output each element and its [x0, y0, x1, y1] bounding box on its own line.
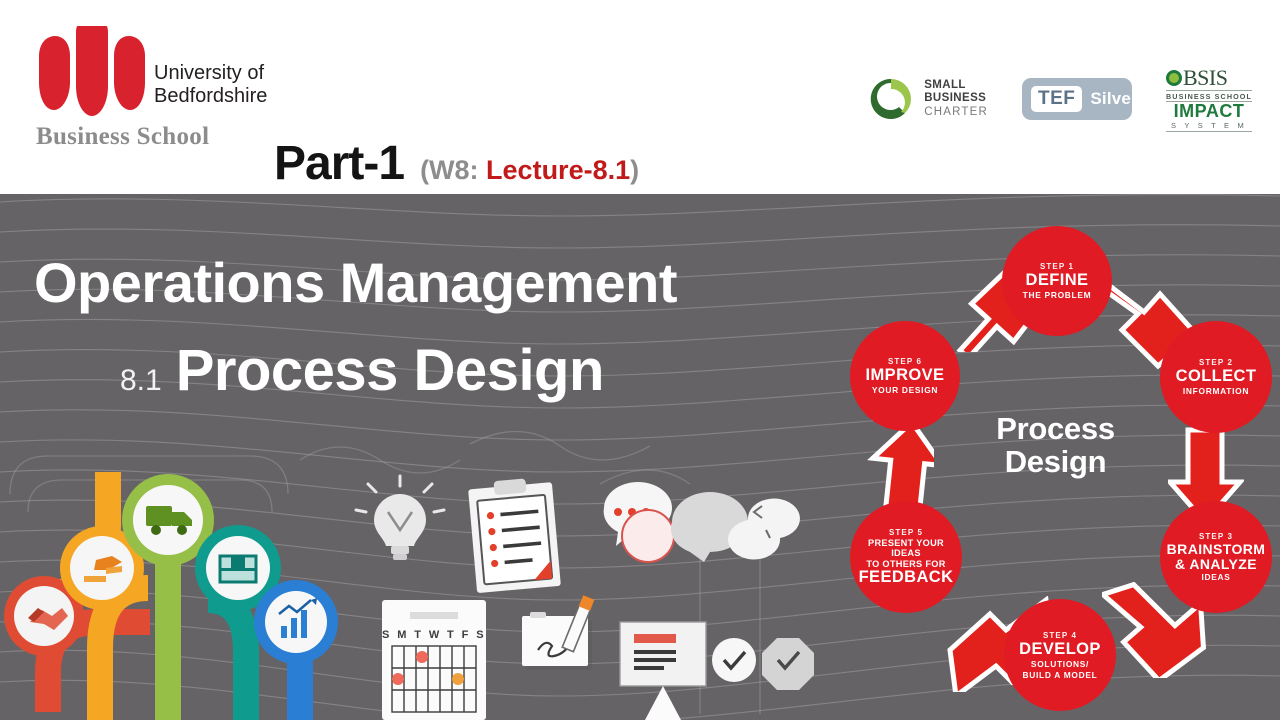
slide-body: Operations Management 8.1 Process Design: [0, 194, 1280, 720]
step-detail-2: BUILD A MODEL: [1022, 670, 1097, 680]
accreditation-bsis: BSIS BUSINESS SCHOOL IMPACT S Y S T E M: [1166, 67, 1252, 132]
package-box-icon: [220, 556, 256, 582]
sbc-line-3: CHARTER: [924, 106, 988, 120]
sbc-line-1: SMALL: [924, 79, 988, 93]
cycle-node-step-6[interactable]: STEP 6 IMPROVE YOUR DESIGN: [850, 321, 960, 431]
step-title-2: & ANALYZE: [1175, 557, 1257, 572]
bsis-impact-word: IMPACT: [1166, 102, 1252, 121]
cycle-center-label: Process Design: [948, 412, 1163, 478]
step-detail: IDEAS: [1201, 572, 1230, 582]
clipboard-checklist-icon: [468, 476, 561, 593]
university-name-line2: Bedfordshire: [154, 85, 267, 108]
cycle-node-step-1[interactable]: STEP 1 DEFINE THE PROBLEM: [1002, 226, 1112, 336]
lecture-ref-suffix: ): [630, 155, 639, 185]
process-design-cycle: STEP 1 DEFINE THE PROBLEM STEP 2 COLLECT…: [820, 214, 1280, 720]
lecture-reference: (W8: Lecture-8.1): [420, 155, 639, 186]
step-detail: THE PROBLEM: [1023, 290, 1092, 300]
step-detail: SOLUTIONS/: [1031, 659, 1089, 669]
cycle-node-step-3[interactable]: STEP 3 BRAINSTORM & ANALYZE IDEAS: [1160, 501, 1272, 613]
sbc-text-block: SMALL BUSINESS CHARTER: [924, 79, 988, 120]
step-title: DEFINE: [1026, 272, 1089, 289]
step-label: STEP 6: [888, 357, 922, 366]
step-label: STEP 5: [889, 528, 923, 537]
step-label: STEP 3: [1199, 532, 1233, 541]
lecture-slide: University of Bedfordshire Business Scho…: [0, 0, 1280, 720]
sbc-line-2: BUSINESS: [924, 92, 988, 106]
bsis-wordmark: BSIS: [1166, 67, 1252, 89]
step-label: STEP 2: [1199, 358, 1233, 367]
bedfordshire-petal-mark-icon: [36, 26, 148, 118]
step-title: FEEDBACK: [859, 569, 954, 586]
tef-badge-text: TEF: [1031, 86, 1082, 112]
tef-award-level: Silver: [1090, 89, 1138, 109]
step-label: STEP 1: [1040, 262, 1074, 271]
bsis-name: BSIS: [1183, 67, 1227, 89]
center-label-line-2: Design: [948, 445, 1163, 478]
sbc-c-ring-icon: [867, 75, 915, 123]
bsis-subtitle: BUSINESS SCHOOL: [1166, 90, 1252, 102]
university-logo: University of Bedfordshire Business Scho…: [36, 26, 266, 146]
checkmark-badge-icon: [762, 638, 814, 690]
part-title-line: Part-1 (W8: Lecture-8.1): [274, 136, 639, 191]
lecture-ref-highlight: Lecture-8.1: [486, 155, 630, 185]
faculty-name: Business School: [36, 123, 209, 151]
process-illustration: S M T W T F S: [0, 472, 830, 720]
cycle-node-step-5[interactable]: STEP 5 PRESENT YOUR IDEAS TO OTHERS FOR …: [850, 501, 962, 613]
step-detail: INFORMATION: [1183, 386, 1249, 396]
step-title: COLLECT: [1176, 368, 1257, 385]
part-title: Part-1: [274, 136, 404, 191]
step-label: STEP 4: [1043, 631, 1077, 640]
section-number: 8.1: [120, 364, 162, 398]
step-lead-1: PRESENT YOUR IDEAS: [854, 538, 958, 559]
presentation-board-icon: [620, 622, 706, 720]
signature-note-icon: [522, 595, 594, 670]
accreditation-logos: SMALL BUSINESS CHARTER TEF Silver BSIS B…: [867, 62, 1252, 136]
tree-infographic: [4, 472, 338, 720]
speech-bubbles-icon: [604, 482, 800, 562]
bsis-target-dot-icon: [1166, 70, 1182, 86]
slide-title: Operations Management: [34, 250, 677, 315]
calendar-weekday-labels: S M T W T F S: [382, 629, 486, 641]
bsis-system-word: S Y S T E M: [1166, 121, 1252, 132]
lightbulb-idea-icon: [356, 476, 444, 560]
step-title: IMPROVE: [866, 367, 945, 384]
calendar-icon: S M T W T F S: [382, 600, 486, 720]
cycle-node-step-2[interactable]: STEP 2 COLLECT INFORMATION: [1160, 321, 1272, 433]
checkmark-badge-icon: [712, 638, 756, 682]
accreditation-small-business-charter: SMALL BUSINESS CHARTER: [867, 75, 988, 123]
cycle-node-step-4[interactable]: STEP 4 DEVELOP SOLUTIONS/ BUILD A MODEL: [1004, 599, 1116, 711]
slide-header: University of Bedfordshire Business Scho…: [0, 0, 1280, 194]
university-name-line1: University of: [154, 62, 267, 85]
step-title: BRAINSTORM: [1167, 542, 1266, 557]
step-detail: YOUR DESIGN: [872, 385, 938, 395]
accreditation-tef-silver: TEF Silver: [1022, 78, 1132, 120]
university-name: University of Bedfordshire: [154, 62, 267, 108]
slide-subtitle: Process Design: [176, 337, 604, 404]
slide-subtitle-row: 8.1 Process Design: [120, 337, 604, 404]
step-title: DEVELOP: [1019, 641, 1101, 658]
lecture-ref-prefix: (W8:: [420, 155, 486, 185]
center-label-line-1: Process: [948, 412, 1163, 445]
